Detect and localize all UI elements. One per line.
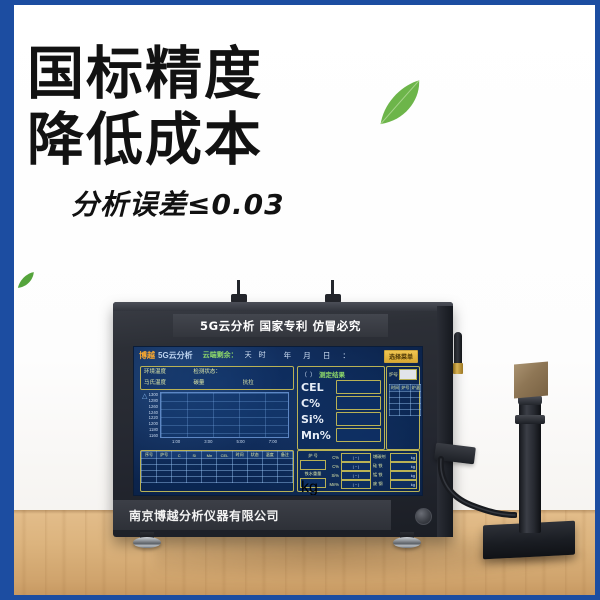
log-row[interactable] bbox=[390, 410, 421, 416]
y-tick: 1240 bbox=[149, 410, 159, 415]
col-status: 状态 bbox=[247, 452, 262, 459]
col-furnace: 炉号 bbox=[157, 452, 172, 459]
cooling-curve-chart[interactable]: △ 1300 1280 1260 1240 1220 1200 1180 116… bbox=[140, 390, 292, 448]
dosing-furnace-input[interactable] bbox=[300, 460, 326, 470]
dosing-kg-value[interactable]: kg bbox=[390, 471, 417, 480]
col-c: C bbox=[172, 452, 187, 459]
paren-right: ） bbox=[310, 370, 316, 379]
dosing-grid: 炉 号 铁水重量 kg C% | ~ | 增碳剂 kg bbox=[298, 451, 419, 491]
company-name-strip: 南京博越分析仪器有限公司 bbox=[113, 500, 391, 530]
antenna-body bbox=[454, 332, 462, 365]
lcd-screen[interactable]: 博越 5G云分析 云端剩余： 天 时 年 月 日 ： 选择菜单 环境温度 检测状… bbox=[133, 346, 423, 496]
dosing-range[interactable]: | ~ | bbox=[341, 471, 371, 480]
result-value-mn[interactable] bbox=[336, 428, 381, 442]
result-row-si: Si% bbox=[298, 412, 384, 426]
furnace-log-panel: 炉号 时间 炉号 炉温 bbox=[386, 366, 420, 450]
dosing-range[interactable]: | ~ | bbox=[341, 480, 371, 489]
menu-select-button[interactable]: 选择菜单 bbox=[384, 350, 418, 363]
log-col-furnace: 炉号 bbox=[400, 385, 410, 392]
dosing-row: C% | ~ | 增碳剂 kg bbox=[328, 453, 417, 461]
result-row-c: C% bbox=[298, 396, 384, 410]
y-tick: 1200 bbox=[149, 421, 159, 426]
furnace-number-label: 炉号 bbox=[389, 372, 398, 378]
dosing-additive-name: 硅 铁 bbox=[373, 463, 388, 469]
foot-disc bbox=[393, 537, 421, 548]
chart-x-axis: 1:00 3:00 5:00 7:00 bbox=[160, 439, 289, 448]
y-tick: 1300 bbox=[149, 392, 159, 397]
result-row-cel: CEL bbox=[298, 380, 384, 394]
parameters-row: 环境温度 检测状态： bbox=[141, 367, 293, 378]
foot-disc bbox=[133, 537, 161, 548]
leveling-foot bbox=[393, 532, 421, 548]
stand-collar bbox=[515, 415, 545, 424]
x-tick: 1:00 bbox=[172, 439, 180, 444]
dosing-additive-name: 增碳剂 bbox=[373, 454, 388, 460]
result-value-c[interactable] bbox=[336, 396, 381, 410]
cell bbox=[232, 477, 247, 483]
log-col-temp: 炉温 bbox=[410, 385, 420, 392]
y-tick: 1280 bbox=[149, 398, 159, 403]
sample-cup bbox=[514, 362, 548, 399]
col-si: Si bbox=[187, 452, 202, 459]
result-label-cel: CEL bbox=[301, 381, 333, 394]
headline-line-2: 降低成本 bbox=[27, 107, 367, 173]
cell bbox=[247, 477, 262, 483]
dosing-range[interactable]: | ~ | bbox=[341, 462, 371, 471]
dosing-row: C% | ~ | 硅 铁 kg bbox=[328, 462, 417, 470]
x-tick: 5:00 bbox=[237, 439, 245, 444]
y-tick: 1180 bbox=[149, 427, 159, 432]
antenna bbox=[453, 332, 463, 374]
headline-block: 国标精度 降低成本 分析误差≤0.03 bbox=[27, 41, 367, 223]
dosing-additive-name: 锰 铁 bbox=[373, 472, 388, 478]
antenna-base bbox=[453, 363, 463, 374]
cell bbox=[142, 477, 157, 483]
history-table-panel[interactable]: 序号 炉号 C Si Mn CEL 时间 状态 温度 备注 bbox=[140, 450, 294, 492]
result-label-mn: Mn% bbox=[301, 429, 333, 442]
col-mn: Mn bbox=[202, 452, 217, 459]
power-knob[interactable] bbox=[415, 508, 432, 525]
dosing-left-column: 炉 号 铁水重量 kg bbox=[300, 453, 326, 489]
dosing-element: C% bbox=[328, 455, 339, 460]
dosing-additive-name: 废 钢 bbox=[373, 481, 388, 487]
screen-title: 5G云分析 bbox=[158, 350, 193, 361]
furnace-number-row: 炉号 bbox=[387, 367, 419, 382]
measurement-results-panel: （ ） 测定结果 CEL C% Si% bbox=[297, 366, 385, 450]
param-martensite-temp: 马氏温度 bbox=[144, 379, 191, 388]
table-header-row: 序号 炉号 C Si Mn CEL 时间 状态 温度 备注 bbox=[142, 452, 293, 459]
cell bbox=[217, 477, 232, 483]
param-ambient-temp: 环境温度 bbox=[144, 368, 191, 377]
result-label-c: C% bbox=[301, 397, 333, 410]
furnace-number-input[interactable] bbox=[399, 369, 417, 380]
cell bbox=[390, 410, 400, 416]
cell bbox=[172, 477, 187, 483]
cell bbox=[400, 410, 410, 416]
dosing-row: Si% | ~ | 锰 铁 kg bbox=[328, 471, 417, 479]
promo-image-frame: 国标精度 降低成本 分析误差≤0.03 5G云分析 国家专利 仿冒必究 bbox=[0, 0, 600, 600]
table-row[interactable] bbox=[142, 477, 293, 483]
log-header-row: 时间 炉号 炉温 bbox=[390, 385, 421, 392]
parameters-row: 马氏温度 碳量 抗拉 bbox=[141, 378, 293, 389]
param-blank-1 bbox=[243, 368, 290, 377]
analyzer-device: 5G云分析 国家专利 仿冒必究 博越 5G云分析 云端剩余： 天 时 年 月 日… bbox=[113, 302, 453, 537]
col-time: 时间 bbox=[232, 452, 247, 459]
dosing-element: Si% bbox=[328, 473, 339, 478]
headline-subtext: 分析误差≤0.03 bbox=[71, 183, 367, 223]
result-label-si: Si% bbox=[301, 413, 333, 426]
cell bbox=[157, 477, 172, 483]
dosing-element: C% bbox=[328, 464, 339, 469]
col-index: 序号 bbox=[142, 452, 157, 459]
dosing-kg-value[interactable]: kg bbox=[390, 453, 417, 462]
dosing-furnace-label: 炉 号 bbox=[300, 453, 326, 459]
result-value-cel[interactable] bbox=[336, 380, 381, 394]
y-tick: 1220 bbox=[149, 415, 159, 420]
log-col-time: 时间 bbox=[390, 385, 400, 392]
company-name: 南京博越分析仪器有限公司 bbox=[129, 507, 279, 524]
cell bbox=[262, 477, 277, 483]
cloud-days: 天 bbox=[245, 350, 252, 360]
history-table: 序号 炉号 C Si Mn CEL 时间 状态 温度 备注 bbox=[141, 451, 293, 483]
col-note: 备注 bbox=[277, 452, 292, 459]
paren-left: （ bbox=[301, 370, 307, 379]
x-tick: 3:00 bbox=[204, 439, 212, 444]
cell bbox=[202, 477, 217, 483]
promo-inner: 国标精度 降低成本 分析误差≤0.03 5G云分析 国家专利 仿冒必究 bbox=[5, 5, 595, 595]
y-tick: 1260 bbox=[149, 404, 159, 409]
cloud-hours: 时 bbox=[259, 350, 266, 360]
cell bbox=[277, 477, 292, 483]
dosing-range[interactable]: | ~ | bbox=[341, 453, 371, 462]
furnace-log-table: 时间 炉号 炉温 bbox=[389, 384, 421, 416]
headline-line-1: 国标精度 bbox=[27, 41, 367, 107]
chart-y-axis: 1300 1280 1260 1240 1220 1200 1180 1160 bbox=[140, 392, 159, 438]
cell bbox=[410, 410, 420, 416]
dosing-kg-value[interactable]: kg bbox=[390, 462, 417, 471]
parameters-panel: 环境温度 检测状态： 马氏温度 碳量 抗拉 bbox=[140, 366, 294, 390]
device-banner: 5G云分析 国家专利 仿冒必究 bbox=[173, 314, 388, 337]
y-tick: 1160 bbox=[149, 433, 159, 438]
date-display: 年 月 日 ： bbox=[284, 350, 355, 361]
result-row-mn: Mn% bbox=[298, 428, 384, 442]
col-cel: CEL bbox=[217, 452, 232, 459]
chassis-top-edge bbox=[113, 302, 453, 311]
results-header: （ ） 测定结果 bbox=[298, 367, 384, 380]
result-value-si[interactable] bbox=[336, 412, 381, 426]
dosing-element: Mn% bbox=[328, 482, 339, 487]
screen-header: 博越 5G云分析 云端剩余： 天 时 年 月 日 ： 选择菜单 bbox=[134, 347, 422, 363]
cloud-remaining-label: 云端剩余： bbox=[203, 350, 238, 360]
col-temp: 温度 bbox=[262, 452, 277, 459]
param-carbon: 碳量 bbox=[193, 379, 240, 388]
param-detect-status: 检测状态： bbox=[193, 368, 240, 377]
leveling-foot bbox=[133, 532, 161, 548]
dosing-weight-input[interactable]: kg bbox=[300, 478, 326, 488]
screen-brand: 博越 bbox=[139, 350, 155, 361]
x-tick: 7:00 bbox=[269, 439, 277, 444]
dosing-right-column: C% | ~ | 增碳剂 kg C% | ~ | 硅 铁 kg bbox=[328, 453, 417, 489]
param-tensile: 抗拉 bbox=[243, 379, 290, 388]
left-accent-stripe bbox=[5, 5, 14, 595]
dosing-kg-value[interactable]: kg bbox=[390, 480, 417, 489]
cell bbox=[187, 477, 202, 483]
dosing-weight-label: 铁水重量 bbox=[300, 471, 326, 477]
results-title: 测定结果 bbox=[319, 369, 345, 379]
sample-stand bbox=[483, 355, 578, 560]
chart-plot-area bbox=[160, 392, 289, 438]
dosing-row: Mn% | ~ | 废 钢 kg bbox=[328, 480, 417, 488]
alloy-dosing-panel: 炉 号 铁水重量 kg C% | ~ | 增碳剂 kg bbox=[297, 450, 420, 492]
